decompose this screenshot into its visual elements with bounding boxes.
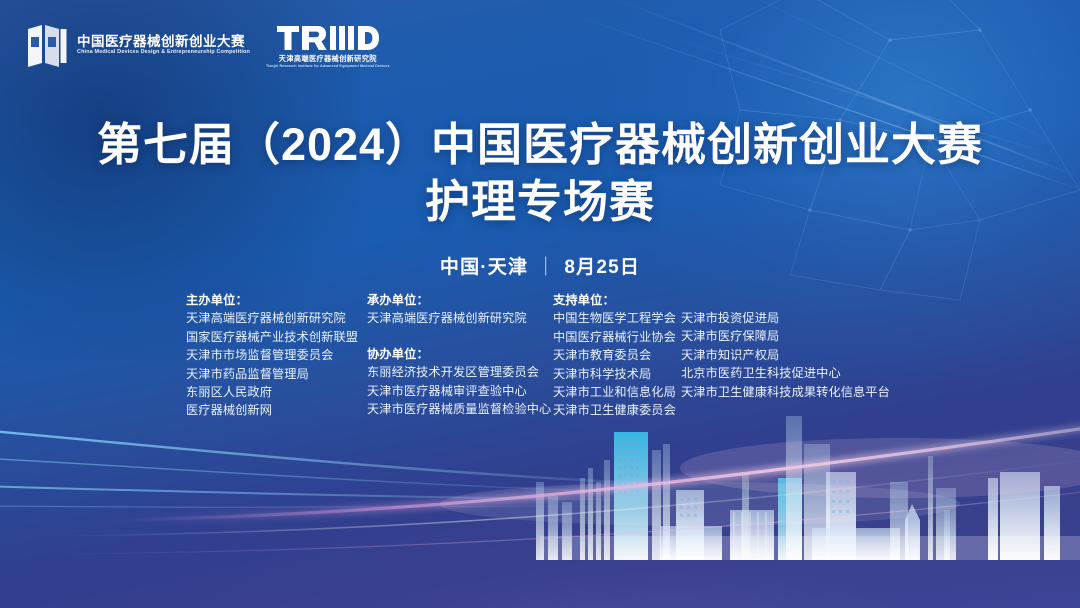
organizer-item: 天津高端医疗器械创新研究院: [186, 309, 367, 327]
logo-triid-subtitle-cn: 天津高端医疗器械创新研究院: [279, 55, 377, 62]
organizer-group-heading: 协办单位：: [367, 345, 553, 363]
organizers-column-4: 天津市投资促进局 天津市医疗保障局 天津市知识产权局 北京市医药卫生科技促进中心…: [681, 291, 891, 420]
organizer-item: 天津市知识产权局: [681, 346, 891, 364]
organizer-group: 承办单位： 天津高端医疗器械创新研究院: [367, 291, 553, 328]
triid-wordmark-icon: [277, 24, 379, 52]
organizer-group-heading: 承办单位：: [367, 291, 553, 309]
organizer-item: 天津市市场监督管理委员会: [186, 346, 367, 364]
main-title-line2: 护理专场赛: [0, 175, 1080, 230]
organizer-item: 北京市医药卫生科技促进中心: [681, 364, 891, 382]
logo-cmdc[interactable]: 中国医疗器械创新创业大赛 China Medical Devices Desig…: [26, 23, 250, 67]
organizer-item: 东丽区人民政府: [186, 383, 367, 401]
organizer-item: 天津市教育委员会: [553, 346, 681, 364]
organizer-item: 医疗器械创新网: [186, 401, 367, 419]
subtitle-separator: ｜: [536, 252, 556, 279]
organizer-group-heading: 主办单位：: [186, 291, 367, 309]
header-logo-bar: 中国医疗器械创新创业大赛 China Medical Devices Desig…: [26, 22, 390, 69]
organizers-column-2: 承办单位： 天津高端医疗器械创新研究院 协办单位： 东丽经济技术开发区管理委员会…: [367, 291, 553, 420]
organizer-item: 国家医疗器械产业技术创新联盟: [186, 328, 367, 346]
organizer-item: 中国生物医学工程学会: [553, 309, 681, 327]
organizer-group-heading: 支持单位：: [553, 291, 681, 309]
event-location: 中国·天津: [440, 257, 528, 278]
organizer-item: 天津市科学技术局: [553, 365, 681, 383]
organizer-item: 天津市医疗保障局: [681, 327, 891, 345]
open-book-door-icon: [26, 23, 68, 67]
organizer-group: 主办单位： 天津高端医疗器械创新研究院 国家医疗器械产业技术创新联盟 天津市市场…: [186, 291, 367, 420]
organizer-item: 天津市医疗器械审评查验中心: [367, 382, 553, 400]
organizer-group: 天津市投资促进局 天津市医疗保障局 天津市知识产权局 北京市医药卫生科技促进中心…: [681, 309, 891, 401]
organizer-item: 天津市卫生健康委员会: [553, 401, 681, 419]
logo-triid-subtitle-en: Tianjin Research Institute for Advanced …: [266, 65, 390, 69]
organizer-item: 东丽经济技术开发区管理委员会: [367, 363, 553, 381]
logo-cmdc-title-cn: 中国医疗器械创新创业大赛: [77, 35, 250, 49]
organizers-section: 主办单位： 天津高端医疗器械创新研究院 国家医疗器械产业技术创新联盟 天津市市场…: [186, 291, 891, 420]
logo-cmdc-text: 中国医疗器械创新创业大赛 China Medical Devices Desig…: [77, 35, 250, 56]
main-title-line1: 第七届（2024）中国医疗器械创新创业大赛: [0, 118, 1080, 171]
organizer-item: 天津市药品监督管理局: [186, 365, 367, 383]
organizer-group: 协办单位： 东丽经济技术开发区管理委员会 天津市医疗器械审评查验中心 天津市医疗…: [367, 345, 553, 419]
organizers-column-1: 主办单位： 天津高端医疗器械创新研究院 国家医疗器械产业技术创新联盟 天津市市场…: [186, 291, 367, 420]
organizer-item: 天津市卫生健康科技成果转化信息平台: [681, 383, 891, 401]
organizer-item: 天津市工业和信息化局: [553, 383, 681, 401]
title-block: 第七届（2024）中国医疗器械创新创业大赛 护理专场赛 中国·天津｜8月25日: [0, 118, 1080, 279]
organizer-item: 中国医疗器械行业协会: [553, 328, 681, 346]
organizer-item: 天津高端医疗器械创新研究院: [367, 309, 553, 327]
logo-cmdc-title-en: China Medical Devices Design & Entrepren…: [77, 50, 250, 56]
poster-banner: 中国医疗器械创新创业大赛 China Medical Devices Desig…: [0, 0, 1080, 608]
organizer-group: 支持单位： 中国生物医学工程学会 中国医疗器械行业协会 天津市教育委员会 天津市…: [553, 291, 681, 420]
background-glow-bottom: [0, 398, 1080, 608]
event-date: 8月25日: [564, 257, 640, 278]
logo-triid[interactable]: 天津高端医疗器械创新研究院 Tianjin Research Institute…: [266, 24, 390, 69]
organizer-item: 天津市投资促进局: [681, 309, 891, 327]
event-subtitle: 中国·天津｜8月25日: [0, 252, 1080, 279]
organizers-column-3: 支持单位： 中国生物医学工程学会 中国医疗器械行业协会 天津市教育委员会 天津市…: [553, 291, 681, 420]
organizer-item: 天津市医疗器械质量监督检验中心: [367, 400, 553, 418]
